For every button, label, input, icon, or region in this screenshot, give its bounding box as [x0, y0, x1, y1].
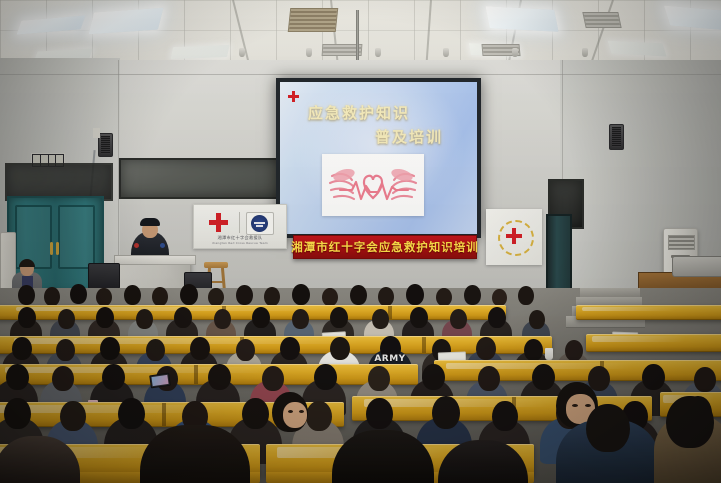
presenter-cap-icon: [140, 218, 160, 226]
audience-head: [532, 364, 555, 390]
boy-eye: [299, 410, 304, 413]
audience-head: [518, 286, 534, 305]
boy-eye: [288, 410, 293, 413]
white-tee-person-head: [330, 337, 350, 360]
audience-head: [368, 366, 390, 391]
audience-head: [476, 337, 496, 360]
paper-cup: [545, 348, 553, 360]
door-handle[interactable]: [50, 242, 53, 255]
audience-head: [136, 309, 153, 329]
audience-head: [422, 364, 445, 390]
audience-head: [432, 396, 460, 429]
door-panel: [15, 205, 52, 269]
audience-head: [208, 288, 224, 306]
wall-speaker: [98, 133, 113, 157]
red-cross-icon: [506, 228, 522, 244]
audience-head: [406, 284, 424, 305]
audience-head: [366, 398, 393, 429]
audience-head: [524, 339, 543, 361]
banner-divider: [239, 212, 240, 233]
foreground-person-head: [666, 396, 714, 448]
audience-head: [694, 367, 716, 392]
audience-head: [174, 307, 192, 328]
audience-head: [236, 285, 253, 305]
smartphone[interactable]: [149, 373, 171, 389]
wall-seam: [0, 74, 721, 75]
audience-head: [292, 309, 309, 329]
door-handle[interactable]: [56, 242, 59, 255]
audience-head: [642, 364, 665, 390]
foreground-person-head: [586, 404, 630, 452]
red-banner-text: 湘潭市红十字会应急救护知识培训: [291, 239, 479, 255]
audience-head: [492, 401, 518, 431]
presenter-badge: [160, 243, 165, 248]
ceiling-light-panel: [485, 6, 558, 32]
audience-head: [264, 287, 280, 306]
audience-head: [146, 339, 165, 361]
red-cross-flag: [486, 209, 542, 265]
lecture-hall-photo: 应急救护知识 普及培训: [0, 0, 721, 483]
audience-head: [180, 284, 198, 305]
white-banner: 湘潭市红十字会救援队 Xiangtan Red Cross Rescue Tea…: [193, 204, 287, 249]
audience-head: [102, 364, 125, 390]
red-cross-icon: [209, 213, 228, 232]
audience-row: [0, 307, 620, 339]
audience-head: [262, 366, 284, 391]
hands-holding-heart-icon: [322, 154, 424, 216]
conduit-box: [93, 128, 100, 138]
presenter-badge: [134, 243, 139, 248]
audience-head: [488, 307, 506, 328]
white-banner-line-2: Xiangtan Red Cross Rescue Team: [194, 241, 286, 245]
audience-head: [4, 398, 31, 429]
man-eye: [585, 404, 591, 407]
blue-shield-emblem-icon: [246, 212, 274, 235]
audience-head: [100, 337, 120, 360]
audience-head: [70, 284, 87, 304]
audience-head: [350, 285, 367, 305]
front-blackboard: [119, 158, 287, 199]
man-eye: [572, 404, 578, 407]
audience-head: [236, 339, 255, 361]
ceiling-light-panel: [170, 45, 229, 59]
speaker-grill-icon: [612, 127, 621, 147]
audience-head: [436, 288, 452, 306]
emblem-bar: [254, 222, 265, 224]
audience-head: [44, 287, 60, 306]
door-panel: [58, 205, 95, 269]
audience-head: [190, 337, 210, 360]
audience-head: [565, 340, 583, 361]
slide-title-line-2: 普及培训: [375, 126, 443, 147]
sprinkler-head: [582, 48, 588, 57]
audience-head: [56, 339, 75, 361]
boy-looking-back-face: [283, 402, 307, 428]
audience-head: [152, 287, 168, 306]
audience-head: [478, 366, 500, 391]
audience-head: [330, 307, 348, 328]
sprinkler-head: [443, 48, 449, 57]
audience-head: [372, 309, 389, 329]
audience-head: [280, 337, 300, 360]
audience-head: [306, 401, 332, 431]
audience-head: [529, 310, 545, 329]
right-door[interactable]: [546, 214, 572, 294]
audience-head: [58, 309, 75, 329]
projection-screen: 应急救护知识 普及培训: [276, 78, 481, 238]
sprinkler-head: [306, 48, 312, 57]
podium-top-surface: [114, 255, 196, 265]
audience-head: [18, 307, 36, 328]
audience-head: [492, 289, 507, 306]
slide-illustration: [322, 154, 424, 216]
audience-head: [242, 398, 269, 429]
red-banner: 湘潭市红十字会应急救护知识培训: [293, 235, 477, 259]
sprinkler-head: [512, 48, 518, 57]
audience-head: [124, 285, 141, 305]
red-cross-icon: [288, 91, 299, 102]
audience-head: [252, 307, 270, 328]
audience-head: [60, 401, 86, 431]
audience-head: [464, 285, 481, 305]
audience-head: [292, 284, 310, 305]
suitcase: [672, 256, 721, 277]
audience-head: [18, 285, 35, 305]
sprinkler-head: [239, 48, 245, 57]
audience-head: [96, 288, 112, 306]
sprinkler-head: [375, 48, 381, 57]
emblem-bar: [256, 225, 263, 227]
audience-head: [118, 398, 145, 429]
ceiling-air-vent: [582, 12, 621, 28]
audience-head: [6, 364, 29, 390]
audience-head: [410, 307, 428, 328]
audience-head: [314, 364, 337, 390]
slide-title-line-1: 应急救护知识: [308, 102, 410, 123]
audience-head: [450, 309, 467, 329]
audience-head: [378, 287, 394, 306]
audience-head: [52, 366, 74, 391]
ceiling-air-vent: [288, 8, 339, 32]
speaker-grill-icon: [101, 136, 110, 154]
wall-speaker: [609, 124, 624, 150]
audience-head: [12, 337, 32, 360]
audience-head: [214, 309, 231, 329]
audience-head: [96, 307, 114, 328]
audience-head: [208, 364, 231, 390]
ac-vent-icon: [668, 235, 695, 250]
audience-head: [322, 288, 338, 306]
